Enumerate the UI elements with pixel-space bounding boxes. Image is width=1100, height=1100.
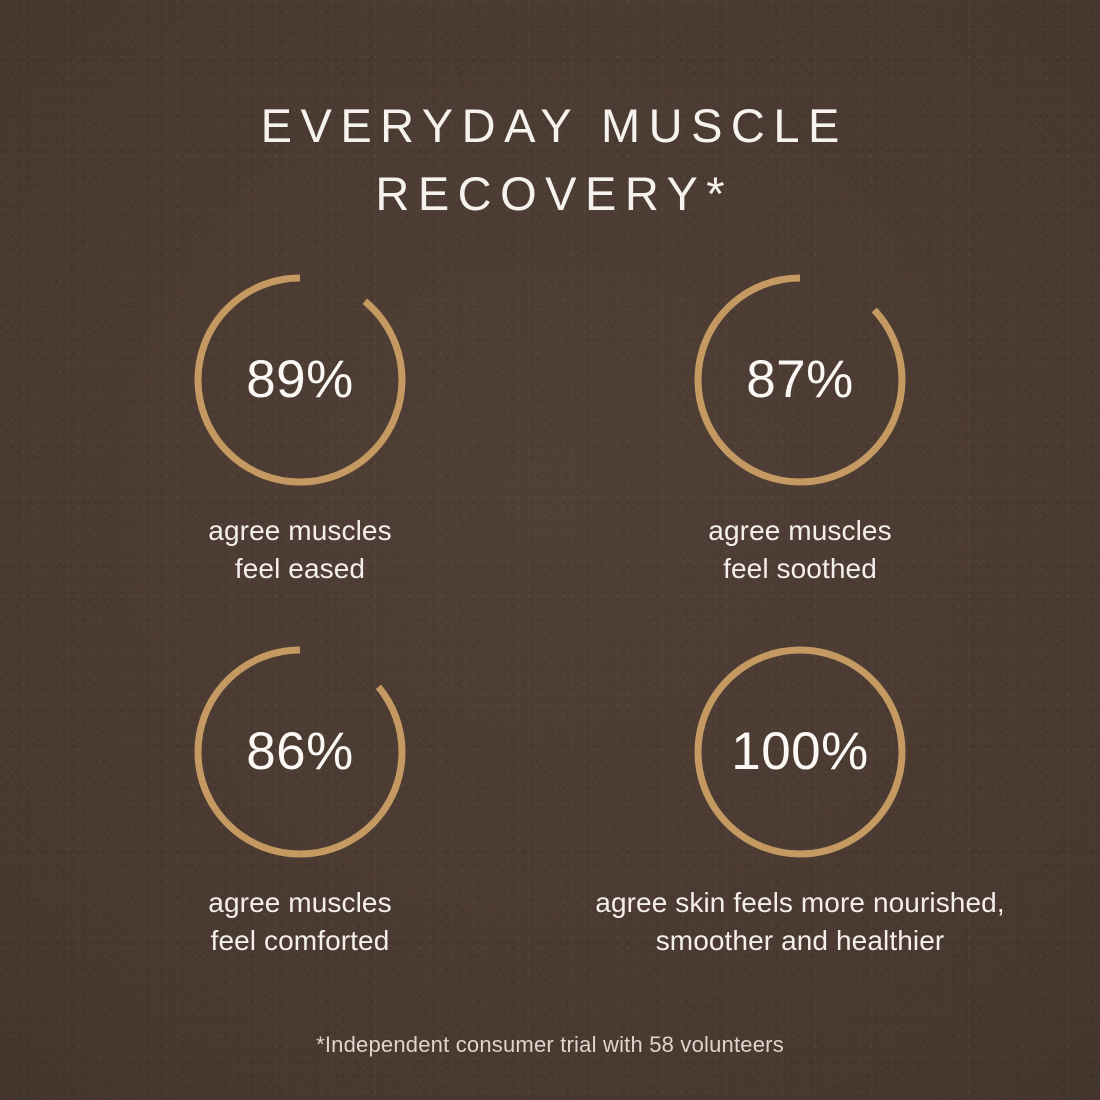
stat-caption-line-2: feel eased xyxy=(208,550,391,588)
donut-value-100: 100% xyxy=(694,646,906,858)
donut-value-89: 89% xyxy=(194,274,406,486)
infographic-page: EVERYDAY MUSCLE RECOVERY* 89% agree musc… xyxy=(0,0,1100,1100)
donut-chart-87: 87% xyxy=(694,274,906,486)
stat-caption-muscles-comforted: agree muscles feel comforted xyxy=(208,884,391,960)
stat-caption-muscles-soothed: agree muscles feel soothed xyxy=(708,512,891,588)
donut-chart-86: 86% xyxy=(194,646,406,858)
stat-caption-line-2: smoother and healthier xyxy=(595,922,1004,960)
stats-grid: 89% agree muscles feel eased 87% agree m… xyxy=(50,274,1050,960)
stat-card-muscles-comforted: 86% agree muscles feel comforted xyxy=(50,646,550,960)
stat-card-skin-nourished: 100% agree skin feels more nourished, sm… xyxy=(550,646,1050,960)
stat-caption-line-2: feel comforted xyxy=(208,922,391,960)
stat-caption-line-1: agree muscles xyxy=(208,884,391,922)
stat-caption-line-2: feel soothed xyxy=(708,550,891,588)
stat-caption-line-1: agree muscles xyxy=(208,512,391,550)
stat-card-muscles-eased: 89% agree muscles feel eased xyxy=(50,274,550,588)
page-title-line-1: EVERYDAY MUSCLE xyxy=(100,92,1000,160)
donut-chart-100: 100% xyxy=(694,646,906,858)
donut-value-86: 86% xyxy=(194,646,406,858)
donut-value-87: 87% xyxy=(694,274,906,486)
stat-caption-muscles-eased: agree muscles feel eased xyxy=(208,512,391,588)
stat-caption-skin-nourished: agree skin feels more nourished, smoothe… xyxy=(595,884,1004,960)
donut-chart-89: 89% xyxy=(194,274,406,486)
stat-caption-line-1: agree skin feels more nourished, xyxy=(595,884,1004,922)
page-title: EVERYDAY MUSCLE RECOVERY* xyxy=(100,92,1000,228)
page-title-line-2: RECOVERY* xyxy=(100,160,1000,228)
stat-caption-line-1: agree muscles xyxy=(708,512,891,550)
footnote: *Independent consumer trial with 58 volu… xyxy=(0,1032,1100,1058)
stat-card-muscles-soothed: 87% agree muscles feel soothed xyxy=(550,274,1050,588)
